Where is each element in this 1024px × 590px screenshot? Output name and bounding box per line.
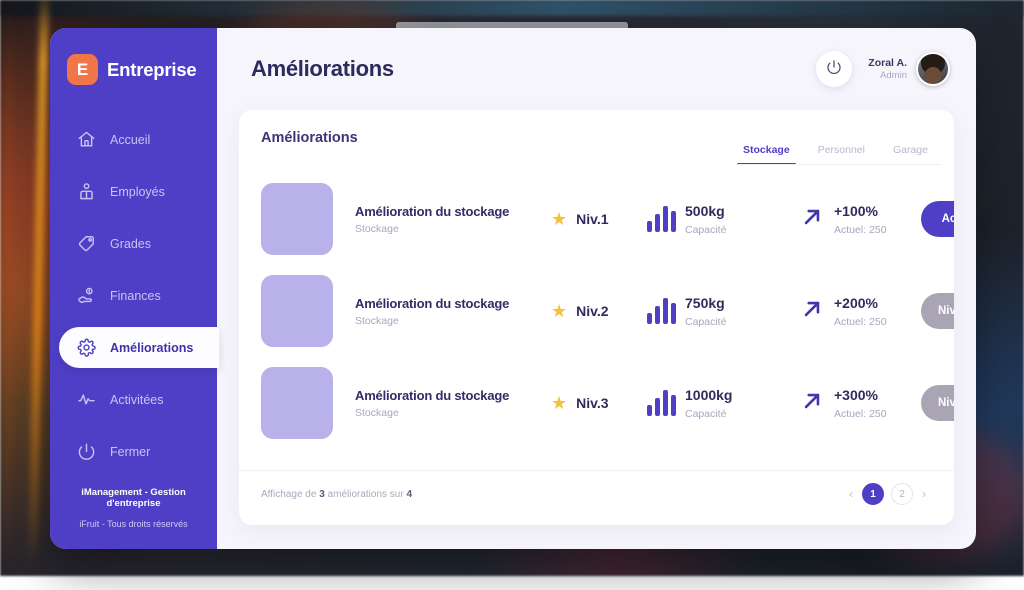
upgrade-name-block: Amélioration du stockage Stockage [333, 296, 551, 327]
sidebar-item-employes[interactable]: Employés [50, 171, 217, 212]
results-summary: Affichage de 3 améliorations sur 4 [261, 489, 412, 500]
upgrade-category: Stockage [355, 407, 551, 419]
upgrade-name: Amélioration du stockage [355, 204, 551, 219]
upgrades-card: Améliorations Stockage Personnel Garage … [239, 110, 954, 525]
upgrade-thumbnail [261, 367, 333, 439]
star-icon: ★ [551, 210, 567, 228]
upgrade-name-block: Amélioration du stockage Stockage [333, 388, 551, 419]
table-row: Amélioration du stockage Stockage ★ Niv.… [261, 357, 932, 449]
chevron-left-icon[interactable]: ‹ [847, 487, 855, 501]
boost-label: Actuel: 250 [834, 408, 887, 420]
tab-garage[interactable]: Garage [893, 144, 928, 165]
background-neon-strip [28, 0, 50, 590]
upgrade-boost-cell: +100% Actuel: 250 [799, 203, 921, 236]
upgrade-capacity-cell: 750kg Capacité [647, 295, 799, 328]
upgrade-level: Niv.2 [576, 303, 608, 319]
background-neon-outer [6, 0, 11, 576]
user-role: Admin [868, 70, 907, 82]
upgrade-name: Amélioration du stockage [355, 388, 551, 403]
power-icon [826, 59, 842, 80]
capacity-value: 750kg [685, 295, 725, 311]
upgrade-level-cell: ★ Niv.1 [551, 210, 647, 228]
table-row: Amélioration du stockage Stockage ★ Niv.… [261, 265, 932, 357]
boost-value: +100% [834, 203, 878, 219]
card-title: Améliorations [261, 130, 358, 146]
power-icon [76, 442, 96, 462]
results-shown-count: 3 [319, 489, 325, 500]
upgrade-boost-cell: +300% Actuel: 250 [799, 387, 921, 420]
upgrade-category: Stockage [355, 315, 551, 327]
sidebar-item-label: Employés [110, 185, 165, 199]
activity-pulse-icon [76, 390, 96, 410]
main-content: Améliorations Zoral A. Admin [217, 28, 976, 549]
results-prefix: Affichage de [261, 489, 316, 500]
upgrade-thumbnail [261, 275, 333, 347]
sidebar-footer-line2: iFruit - Tous droits réservés [60, 519, 207, 529]
upgrade-level-cell: ★ Niv.2 [551, 302, 647, 320]
chevron-right-icon[interactable]: › [920, 487, 928, 501]
upgrade-capacity-cell: 500kg Capacité [647, 203, 799, 236]
upgrade-level: Niv.3 [576, 395, 608, 411]
capacity-value: 1000kg [685, 387, 732, 403]
results-total-count: 4 [406, 489, 412, 500]
user-name: Zoral A. [868, 57, 907, 70]
sidebar-item-grades[interactable]: Grades [50, 223, 217, 264]
locked-requirement-button: Niv. 1 Requis [921, 293, 954, 329]
topbar-right: Zoral A. Admin [816, 51, 950, 87]
star-icon: ★ [551, 302, 567, 320]
locked-requirement-button: Niv. 2 Requis [921, 385, 954, 421]
tab-personnel[interactable]: Personnel [818, 144, 865, 165]
upgrade-capacity-cell: 1000kg Capacité [647, 387, 799, 420]
pagination: ‹ 1 2 › [847, 483, 928, 505]
sidebar-item-label: Activitées [110, 393, 164, 407]
results-middle: améliorations sur [328, 489, 404, 500]
boost-values: +300% Actuel: 250 [834, 387, 887, 420]
user-text: Zoral A. Admin [868, 57, 907, 82]
sidebar-footer-line1: iManagement - Gestion d'entreprise [60, 487, 207, 509]
arrow-up-right-icon [799, 296, 825, 327]
user-badge-icon [76, 182, 96, 202]
boost-label: Actuel: 250 [834, 316, 887, 328]
upgrade-category: Stockage [355, 223, 551, 235]
brand: E Entreprise [50, 28, 217, 85]
sidebar-footer: iManagement - Gestion d'entreprise iFrui… [50, 487, 217, 549]
background-top-strip [0, 0, 1024, 16]
upgrade-action-cell: Niv. 1 Requis [921, 293, 954, 329]
upgrade-level: Niv.1 [576, 211, 608, 227]
tab-stockage[interactable]: Stockage [743, 144, 790, 165]
capacity-values: 750kg Capacité [685, 295, 726, 328]
upgrade-list: Amélioration du stockage Stockage ★ Niv.… [239, 165, 954, 464]
hand-coin-icon [76, 286, 96, 306]
brand-logo-badge: E [67, 54, 98, 85]
upgrade-action-cell: Niv. 2 Requis [921, 385, 954, 421]
table-row: Amélioration du stockage Stockage ★ Niv.… [261, 173, 932, 265]
sidebar-nav: Accueil Employés Grades [50, 119, 217, 483]
gear-icon [76, 338, 96, 358]
page-title: Améliorations [251, 56, 394, 82]
capacity-label: Capacité [685, 408, 732, 420]
brand-name: Entreprise [107, 59, 197, 81]
upgrade-level-cell: ★ Niv.3 [551, 394, 647, 412]
sidebar-item-label: Accueil [110, 133, 150, 147]
pagination-page-2[interactable]: 2 [891, 483, 913, 505]
bar-chart-icon [647, 390, 676, 416]
sidebar-item-fermer[interactable]: Fermer [50, 431, 217, 472]
boost-value: +200% [834, 295, 878, 311]
capacity-label: Capacité [685, 316, 726, 328]
pagination-page-1[interactable]: 1 [862, 483, 884, 505]
sidebar-item-ameliorations[interactable]: Améliorations [59, 327, 219, 368]
bar-chart-icon [647, 298, 676, 324]
upgrade-name: Amélioration du stockage [355, 296, 551, 311]
card-header: Améliorations Stockage Personnel Garage [239, 110, 954, 165]
tag-icon [76, 234, 96, 254]
upgrade-action-cell: Acheter [921, 201, 954, 237]
avatar[interactable] [916, 52, 950, 86]
buy-button[interactable]: Acheter [921, 201, 954, 237]
home-icon [76, 130, 96, 150]
sidebar-item-label: Améliorations [110, 341, 193, 355]
sidebar-item-finances[interactable]: Finances [50, 275, 217, 316]
boost-value: +300% [834, 387, 878, 403]
sidebar-item-accueil[interactable]: Accueil [50, 119, 217, 160]
sidebar-item-label: Fermer [110, 445, 150, 459]
sidebar-item-label: Grades [110, 237, 151, 251]
upgrade-name-block: Amélioration du stockage Stockage [333, 204, 551, 235]
power-button[interactable] [816, 51, 852, 87]
arrow-up-right-icon [799, 388, 825, 419]
star-icon: ★ [551, 394, 567, 412]
upgrade-thumbnail [261, 183, 333, 255]
sidebar: E Entreprise Accueil Employés [50, 28, 217, 549]
topbar: Améliorations Zoral A. Admin [239, 28, 954, 110]
capacity-values: 500kg Capacité [685, 203, 726, 236]
sidebar-item-activitees[interactable]: Activitées [50, 379, 217, 420]
upgrade-boost-cell: +200% Actuel: 250 [799, 295, 921, 328]
tab-bar: Stockage Personnel Garage [743, 144, 928, 165]
boost-values: +100% Actuel: 250 [834, 203, 887, 236]
capacity-label: Capacité [685, 224, 726, 236]
boost-values: +200% Actuel: 250 [834, 295, 887, 328]
capacity-value: 500kg [685, 203, 725, 219]
sidebar-item-label: Finances [110, 289, 161, 303]
card-footer: Affichage de 3 améliorations sur 4 ‹ 1 2… [239, 470, 954, 525]
capacity-values: 1000kg Capacité [685, 387, 732, 420]
user-menu[interactable]: Zoral A. Admin [868, 52, 950, 86]
bar-chart-icon [647, 206, 676, 232]
boost-label: Actuel: 250 [834, 224, 887, 236]
arrow-up-right-icon [799, 204, 825, 235]
app-window: E Entreprise Accueil Employés [50, 28, 976, 549]
